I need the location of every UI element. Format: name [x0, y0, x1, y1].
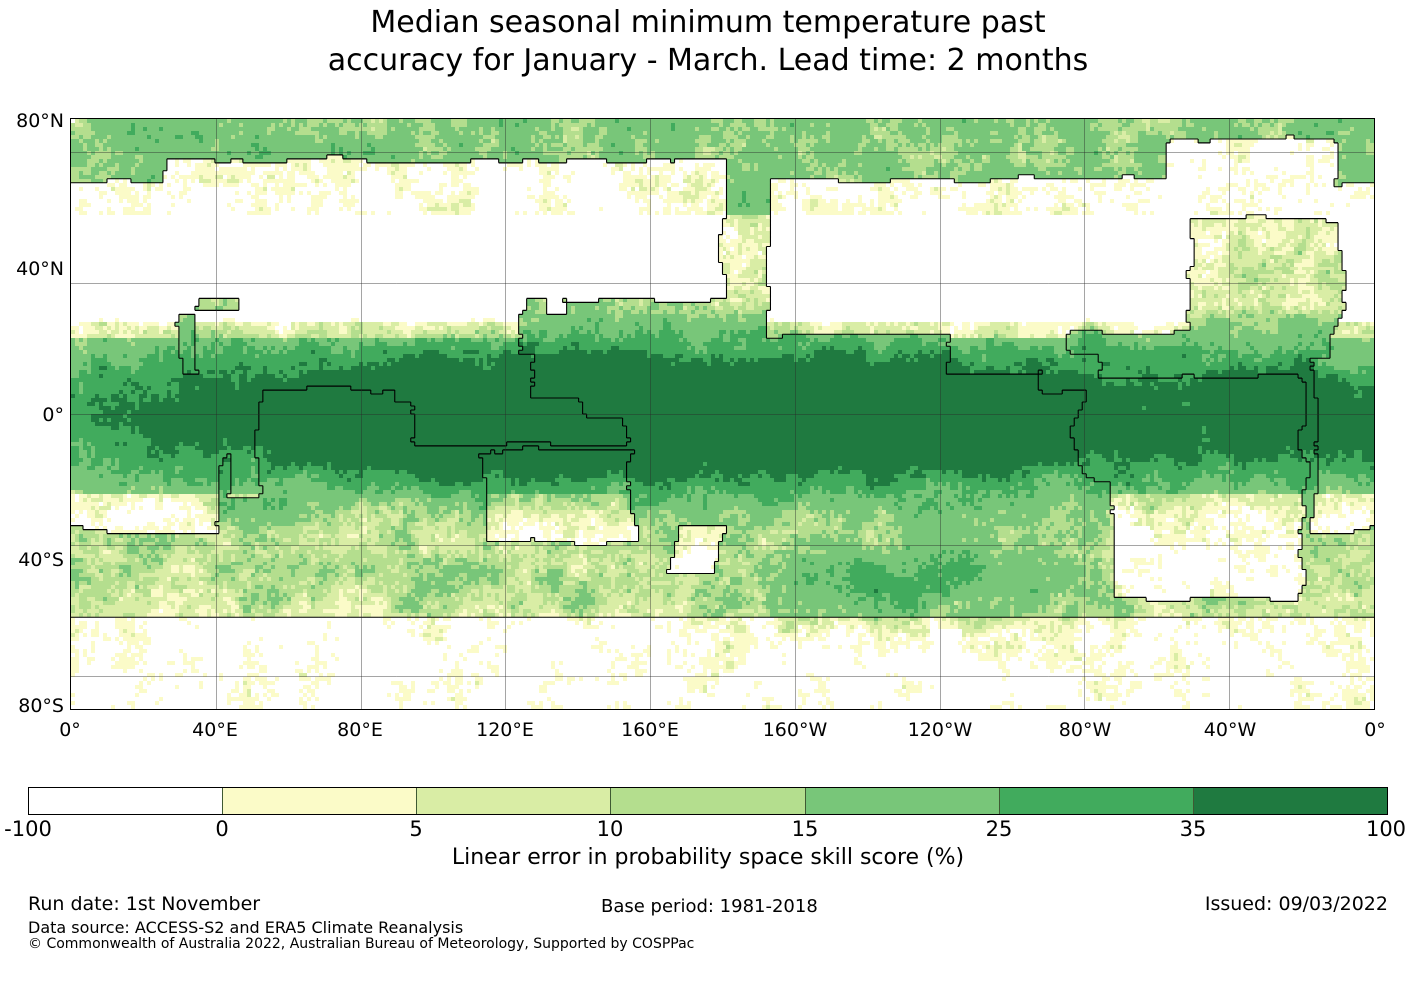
x-tick-label: 80°W: [1059, 721, 1111, 740]
colorbar-tick-label: 15: [792, 819, 819, 840]
colorbar-axis-label: Linear error in probability space skill …: [0, 846, 1416, 870]
colorbar-tick-label: 0: [215, 819, 228, 840]
colorbar-segment-25-35: [1000, 788, 1194, 814]
x-tick-label: 0°: [59, 721, 81, 740]
x-tick-label: 80°E: [337, 721, 383, 740]
colorbar-tick-label: 5: [409, 819, 422, 840]
x-tick-label: 160°W: [763, 721, 828, 740]
x-tick-label: 40°E: [192, 721, 238, 740]
x-tick-label: 0°: [1364, 721, 1386, 740]
colorbar-segment-10-15: [611, 788, 806, 814]
y-tick-label: 40°S: [0, 551, 64, 570]
colorbar-container: [28, 787, 1388, 815]
colorbar[interactable]: [28, 787, 1388, 815]
y-tick-label: 40°N: [0, 260, 64, 279]
y-tick-label: 80°N: [0, 112, 64, 131]
x-tick-label: 120°W: [908, 721, 973, 740]
footer-run-date: Run date: 1st November: [28, 893, 260, 915]
footer-issued-date: Issued: 09/03/2022: [1205, 893, 1388, 915]
colorbar-segment-5-10: [417, 788, 611, 814]
colorbar-tick-label: 25: [986, 819, 1013, 840]
colorbar-segment-35-100: [1194, 788, 1387, 814]
x-tick-label: 160°E: [621, 721, 679, 740]
y-tick-label: 80°S: [0, 697, 64, 716]
chart-title: Median seasonal minimum temperature past…: [0, 4, 1416, 80]
footer-data-source: Data source: ACCESS-S2 and ERA5 Climate …: [28, 918, 463, 937]
colorbar-segment-15-25: [806, 788, 1000, 814]
colorbar-segment--100-0: [29, 788, 223, 814]
y-tick-label: 0°: [0, 406, 64, 425]
colorbar-tick-label: -100: [4, 819, 52, 840]
x-tick-label: 120°E: [476, 721, 534, 740]
colorbar-tick-label: 35: [1180, 819, 1207, 840]
map-plot-area: [70, 118, 1375, 710]
x-tick-label: 40°W: [1204, 721, 1256, 740]
skill-score-heatmap: [71, 119, 1374, 709]
footer-base-period: Base period: 1981-2018: [601, 896, 818, 917]
colorbar-tick-label: 100: [1366, 819, 1406, 840]
colorbar-tick-label: 10: [597, 819, 624, 840]
footer-copyright: © Commonwealth of Australia 2022, Austra…: [28, 936, 694, 953]
colorbar-segment-0-5: [223, 788, 417, 814]
